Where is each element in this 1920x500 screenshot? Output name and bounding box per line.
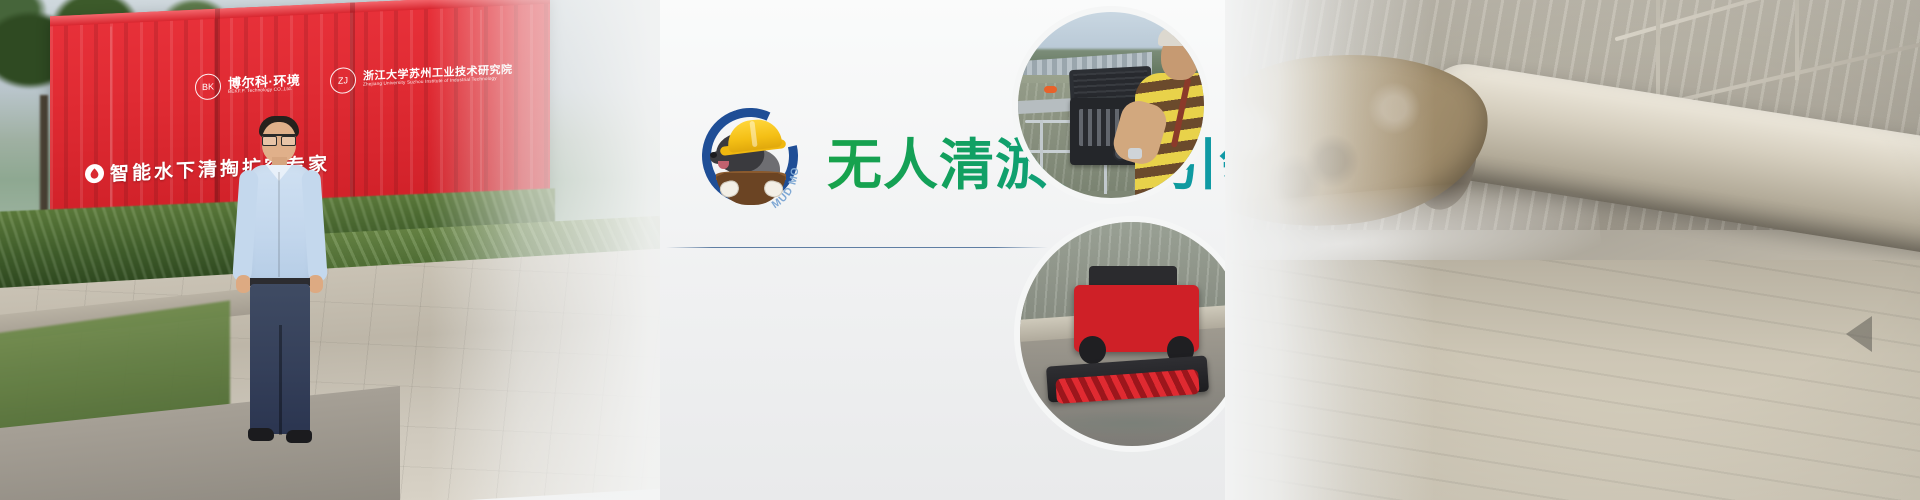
center-content: MUD MOLE 无人清淤行业引领者: [660, 0, 1080, 500]
bekf-logo-icon: BK: [195, 73, 221, 100]
mud-mole-logo: MUD MOLE: [694, 103, 812, 215]
pants-leg-split: [279, 325, 282, 435]
container-and-engineer-photo: BK 博尔科·环境 BEKF.P. Technology CO.,Ltd. ZJ…: [0, 0, 660, 500]
sun-cap: [1158, 27, 1203, 47]
slogan-badge-icon: [85, 164, 104, 184]
person-left-shoe: [248, 428, 274, 441]
operator-with-remote-control-photo: [1018, 12, 1204, 198]
puddle-reflection: [1033, 410, 1230, 437]
person-left-hand: [236, 275, 251, 293]
brand-name-en: BEKF.P. Technology CO.,Ltd.: [228, 87, 300, 95]
wristwatch: [1128, 148, 1142, 159]
red-dredging-robot-photo: [1020, 222, 1244, 446]
pipe-discharging-sludge-photo: [1225, 0, 1920, 500]
person-right-hand: [308, 275, 323, 293]
rail-post: [1040, 120, 1043, 194]
zju-logo-icon: ZJ: [330, 67, 356, 94]
right-photo-fade: [1225, 0, 1435, 500]
engineer-person: [228, 110, 348, 440]
mole-nose: [710, 152, 717, 158]
robot-wheel: [1079, 336, 1107, 364]
hero-banner: BK 博尔科·环境 BEKF.P. Technology CO.,Ltd. ZJ…: [0, 0, 1920, 500]
left-photo-fade: [430, 0, 660, 500]
brand-bekf: BK 博尔科·环境 BEKF.P. Technology CO.,Ltd.: [195, 70, 300, 101]
operator-person: [1122, 23, 1204, 198]
shirt-placket: [278, 172, 280, 277]
title-divider: [666, 247, 1048, 248]
dredging-robot: [1074, 285, 1199, 352]
person-right-shoe: [286, 430, 312, 443]
eyeglasses-icon: [262, 134, 296, 142]
orange-float: [1044, 86, 1057, 93]
